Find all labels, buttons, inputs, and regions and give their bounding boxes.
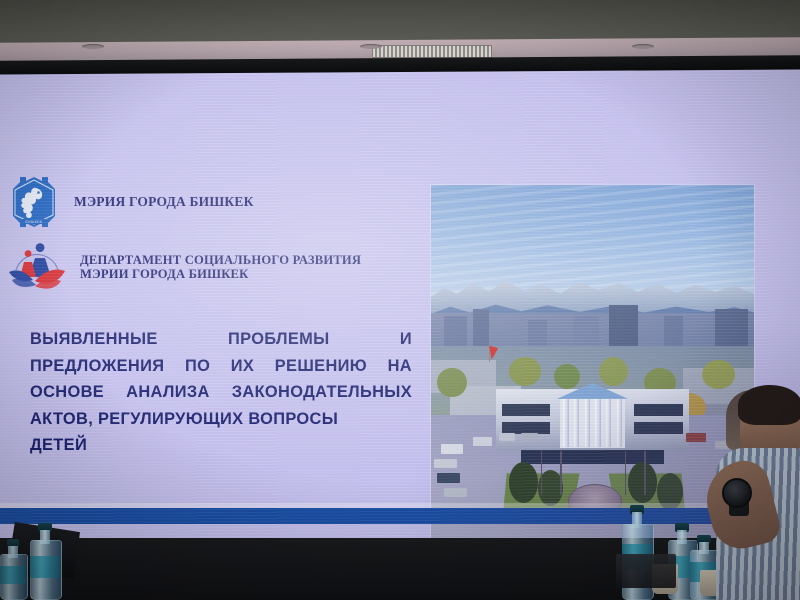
department-title-line-1: ДЕПАРТАМЕНТ СОЦИАЛЬНОГО РАЗВИТИЯ	[80, 253, 361, 267]
person-hair	[738, 385, 800, 425]
photo-column	[617, 399, 622, 447]
photo-plaza-tree	[509, 462, 538, 502]
photo-car	[434, 459, 457, 468]
social-development-logo-icon	[6, 240, 68, 294]
photo-window-row	[634, 422, 682, 434]
photo-tree	[554, 364, 580, 390]
slide-title-body: ВЫЯВЛЕННЫЕ ПРОБЛЕМЫ И ПРЕДЛОЖЕНИЯ ПО ИХ …	[30, 330, 412, 428]
bishkek-coat-of-arms-icon: БИШКЕК	[12, 176, 56, 228]
photo-sky-clouds	[431, 185, 754, 298]
slide-title: ВЫЯВЛЕННЫЕ ПРОБЛЕМЫ И ПРЕДЛОЖЕНИЯ ПО ИХ …	[30, 326, 412, 459]
photo-window-row	[502, 422, 550, 434]
conference-room-scene: БИШКЕК МЭРИЯ ГОРОДА БИШКЕК	[0, 0, 800, 600]
presentation-slide: БИШКЕК МЭРИЯ ГОРОДА БИШКЕК	[0, 72, 800, 542]
wristwatch-icon	[722, 478, 752, 508]
ceiling-mount	[360, 44, 382, 49]
photo-car	[441, 444, 464, 453]
photo-car	[686, 433, 705, 442]
slide-title-last-line: ДЕТЕЙ	[30, 432, 412, 459]
photo-car	[473, 437, 492, 446]
photo-lamp-post	[541, 451, 542, 495]
ceiling-vent	[372, 45, 492, 58]
water-bottle	[0, 540, 26, 600]
laptop	[616, 554, 676, 588]
photo-window-row	[502, 404, 550, 416]
photo-car	[499, 433, 515, 441]
ceiling-mount	[632, 44, 654, 49]
photo-tree	[437, 368, 466, 397]
water-bottle	[30, 522, 60, 600]
photo-tree	[599, 357, 628, 386]
svg-text:БИШКЕК: БИШКЕК	[25, 220, 43, 224]
photo-plaza-tree	[628, 462, 657, 502]
department-title-line-2: МЭРИИ ГОРОДА БИШКЕК	[80, 267, 361, 281]
photo-car	[444, 488, 467, 497]
mayoralty-title: МЭРИЯ ГОРОДА БИШКЕК	[74, 194, 254, 209]
department-title: ДЕПАРТАМЕНТ СОЦИАЛЬНОГО РАЗВИТИЯ МЭРИИ Г…	[80, 253, 361, 281]
photo-lamp-post	[560, 451, 561, 495]
photo-cityhall-portico	[560, 397, 625, 448]
photo-flagpole	[489, 342, 490, 362]
photo-column	[585, 399, 590, 447]
photo-window-row	[634, 404, 682, 416]
bottle-label	[30, 556, 60, 578]
photo-lamp-post	[625, 451, 626, 495]
photo-tree	[509, 357, 541, 386]
photo-column	[606, 399, 611, 447]
bishkek-city-hall-aerial-photo	[431, 185, 754, 544]
photo-column	[563, 399, 568, 447]
projection-screen: БИШКЕК МЭРИЯ ГОРОДА БИШКЕК	[0, 70, 800, 545]
photo-car	[437, 473, 460, 482]
photo-column	[595, 399, 600, 447]
slide-header-mayoralty: БИШКЕК МЭРИЯ ГОРОДА БИШКЕК	[12, 176, 254, 228]
slide-header-department: ДЕПАРТАМЕНТ СОЦИАЛЬНОГО РАЗВИТИЯ МЭРИИ Г…	[6, 240, 361, 294]
photo-lamp-post	[644, 451, 645, 495]
bottle-label	[0, 566, 26, 584]
photo-column	[574, 399, 579, 447]
seated-person-with-wristwatch	[708, 385, 800, 600]
photo-car	[521, 433, 537, 441]
ceiling-mount	[82, 44, 104, 49]
